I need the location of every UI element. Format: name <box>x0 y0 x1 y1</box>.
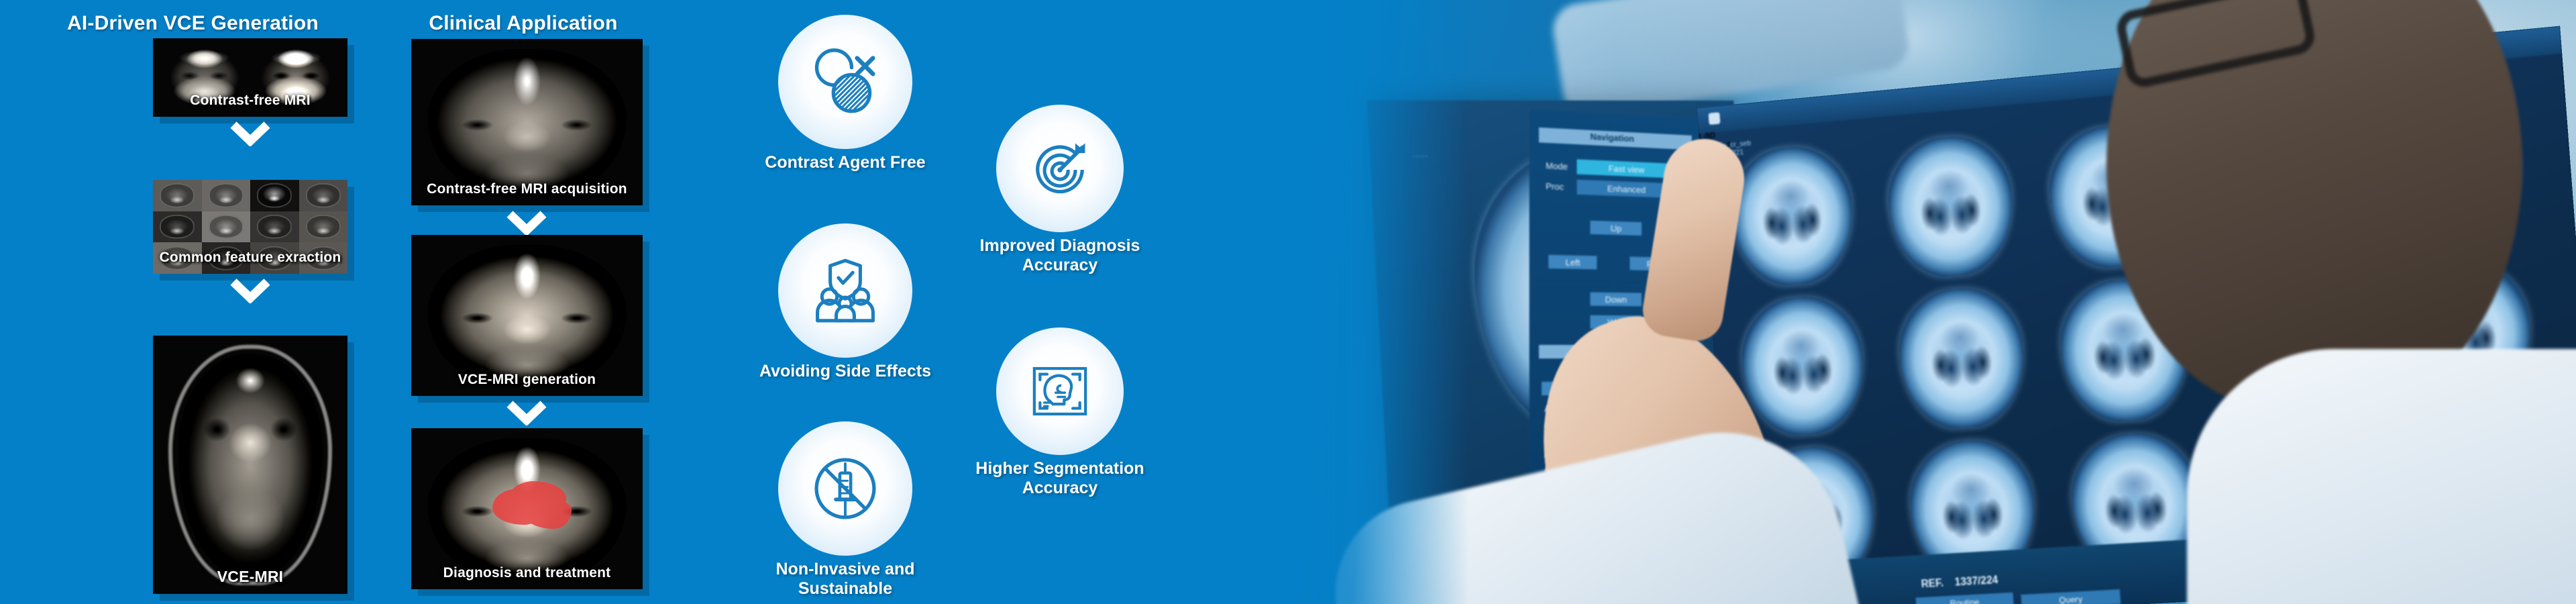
doctor-shoulder <box>2187 349 2576 604</box>
footer-tab-query[interactable]: Query <box>2021 589 2121 604</box>
feature-cell <box>202 242 251 274</box>
chevron-down-icon-3 <box>506 210 547 236</box>
panel-diagnosis-treatment: Diagnosis and treatment <box>411 428 643 589</box>
app-logo-icon <box>1709 112 1721 125</box>
feature-cell <box>299 180 348 211</box>
ct-slice[interactable] <box>1884 132 2017 281</box>
feature-cell <box>202 211 251 243</box>
benefit-label: Higher Segmentation Accuracy <box>966 459 1154 497</box>
benefit-icon-circle <box>996 328 1124 455</box>
panel-common-feature-extraction: Common feature exraction <box>153 180 347 274</box>
field-label-proc: Proc <box>1546 181 1564 192</box>
benefit-icon-circle <box>778 421 912 556</box>
skull-rim <box>168 344 332 585</box>
photo-left-fade <box>1181 0 1469 604</box>
feature-cell <box>153 211 202 243</box>
ct-slice[interactable] <box>1895 284 2028 432</box>
head-slice <box>427 49 627 195</box>
mri-image-coronal-bright <box>411 235 643 396</box>
feature-cell <box>250 242 299 274</box>
feature-cell <box>299 211 348 243</box>
panel-vce-mri-generation: VCE-MRI generation <box>411 235 643 396</box>
panel-contrast-free-acquisition: Contrast-free MRI acquisition <box>411 39 643 205</box>
feature-cell <box>250 180 299 211</box>
graphical-abstract: AI-Driven VCE Generation Contrast-free M… <box>0 0 2576 604</box>
nav-button-left[interactable]: Left <box>1548 255 1597 270</box>
feature-cell <box>202 180 251 211</box>
radiology-photo: ····· Navigation Mode Fast view Proc Enh… <box>1181 0 2576 604</box>
column-title-clinical: Clinical Application <box>416 12 631 35</box>
benefit-label: Non-Invasive and Sustainable <box>751 560 939 598</box>
ct-slice[interactable] <box>1727 142 1857 289</box>
ct-slice[interactable] <box>1738 293 1868 438</box>
panel-contrast-free-mri: Contrast-free MRI <box>153 38 347 117</box>
nav-button-up[interactable]: Up <box>1590 221 1642 236</box>
no-syringe-icon <box>806 450 884 527</box>
feature-map-grid <box>153 180 347 274</box>
mri-image-coronal-segmented <box>411 428 643 589</box>
benefit-non-invasive-sustainable[interactable]: Non-Invasive and Sustainable <box>751 290 939 598</box>
chevron-down-icon-1 <box>230 121 270 146</box>
panel-title-navigation: Navigation <box>1590 132 1633 144</box>
feature-cell <box>250 211 299 243</box>
panel-vce-mri: VCE-MRI <box>153 336 347 594</box>
ref-label: REF. <box>1921 578 1944 591</box>
footer-tab-routine[interactable]: Routine <box>1916 593 2014 604</box>
nav-button-down[interactable]: Down <box>1590 292 1642 306</box>
field-value-mode[interactable]: Fast view <box>1577 159 1676 178</box>
column-title-ai-driven: AI-Driven VCE Generation <box>67 12 282 35</box>
feature-cell <box>299 242 348 274</box>
feature-cell <box>153 180 202 211</box>
ref-value: 1337/224 <box>1954 574 1998 589</box>
brain-half-right <box>250 44 341 110</box>
field-label-mode: Mode <box>1546 160 1568 172</box>
skull-scan-frame-icon <box>1024 356 1095 427</box>
chevron-down-icon-2 <box>230 278 270 303</box>
mri-image-axial <box>153 336 347 594</box>
head-slice <box>427 244 627 386</box>
feature-cell <box>153 242 202 274</box>
mri-image-coronal <box>411 39 643 205</box>
brain-half-left <box>159 44 250 110</box>
tumor-segmentation-overlay <box>506 481 566 525</box>
chevron-down-icon-4 <box>506 400 547 425</box>
mri-image-pair-axial <box>153 38 347 117</box>
benefit-higher-segmentation-accuracy[interactable]: Higher Segmentation Accuracy <box>966 128 1154 497</box>
